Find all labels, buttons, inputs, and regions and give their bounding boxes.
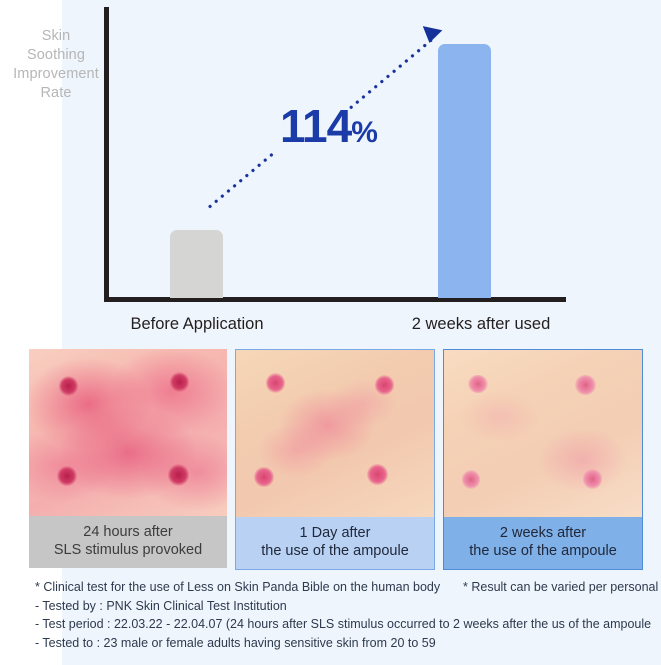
skin-texture — [29, 349, 227, 516]
irritation-spot — [59, 376, 79, 396]
bar-chart: Skin Soothing Improvement Rate 114% Befo… — [0, 0, 661, 340]
photo-caption-1-day-after: 1 Day after the use of the ampoule — [236, 517, 434, 569]
bar-before-application — [170, 230, 223, 298]
improvement-stat-unit: % — [351, 116, 378, 149]
skin-photo-24-hours-after — [29, 349, 227, 516]
irritation-spot — [583, 469, 603, 489]
photo-card-24-hours-after: 24 hours after SLS stimulus provoked — [29, 349, 227, 568]
trend-arrow-icon — [420, 26, 443, 45]
improvement-stat-value: 114 — [280, 100, 351, 152]
irritation-spot — [57, 466, 77, 486]
photo-caption-2-weeks-after: 2 weeks after the use of the ampoule — [444, 517, 642, 569]
photo-card-2-weeks-after: 2 weeks after the use of the ampoule — [443, 349, 643, 570]
footnote-line: - Test period : 22.03.22 - 22.04.07 (24 … — [35, 615, 655, 634]
irritation-spot — [462, 470, 480, 488]
skin-photo-1-day-after — [236, 350, 434, 517]
footnote-line: - Tested by : PNK Skin Clinical Test Ins… — [35, 597, 655, 616]
chart-y-axis — [104, 7, 109, 302]
x-axis-tick-two-weeks-after-used: 2 weeks after used — [386, 315, 576, 334]
irritation-spot — [254, 467, 274, 487]
skin-photo-2-weeks-after — [444, 350, 642, 517]
footnote-line: - Tested to : 23 male or female adults h… — [35, 634, 655, 653]
footnotes: * Clinical test for the use of Less on S… — [35, 578, 655, 658]
photo-comparison-strip: 24 hours after SLS stimulus provoked 1 D… — [29, 349, 643, 568]
y-axis-label: Skin Soothing Improvement Rate — [4, 27, 108, 103]
skin-texture — [236, 350, 434, 517]
footnote-disclaimer: * Result can be varied per personal — [463, 578, 658, 597]
irritation-spot — [168, 464, 190, 486]
photo-card-1-day-after: 1 Day after the use of the ampoule — [235, 349, 435, 570]
x-axis-tick-before-application: Before Application — [104, 315, 290, 334]
photo-caption-24-hours-after: 24 hours after SLS stimulus provoked — [29, 516, 227, 568]
irritation-spot — [468, 375, 488, 393]
trend-dotted-line-lower — [206, 150, 278, 211]
improvement-stat-callout: 114% — [280, 103, 378, 156]
infographic-page: Skin Soothing Improvement Rate 114% Befo… — [0, 0, 661, 665]
bar-two-weeks-after-used — [438, 44, 491, 298]
